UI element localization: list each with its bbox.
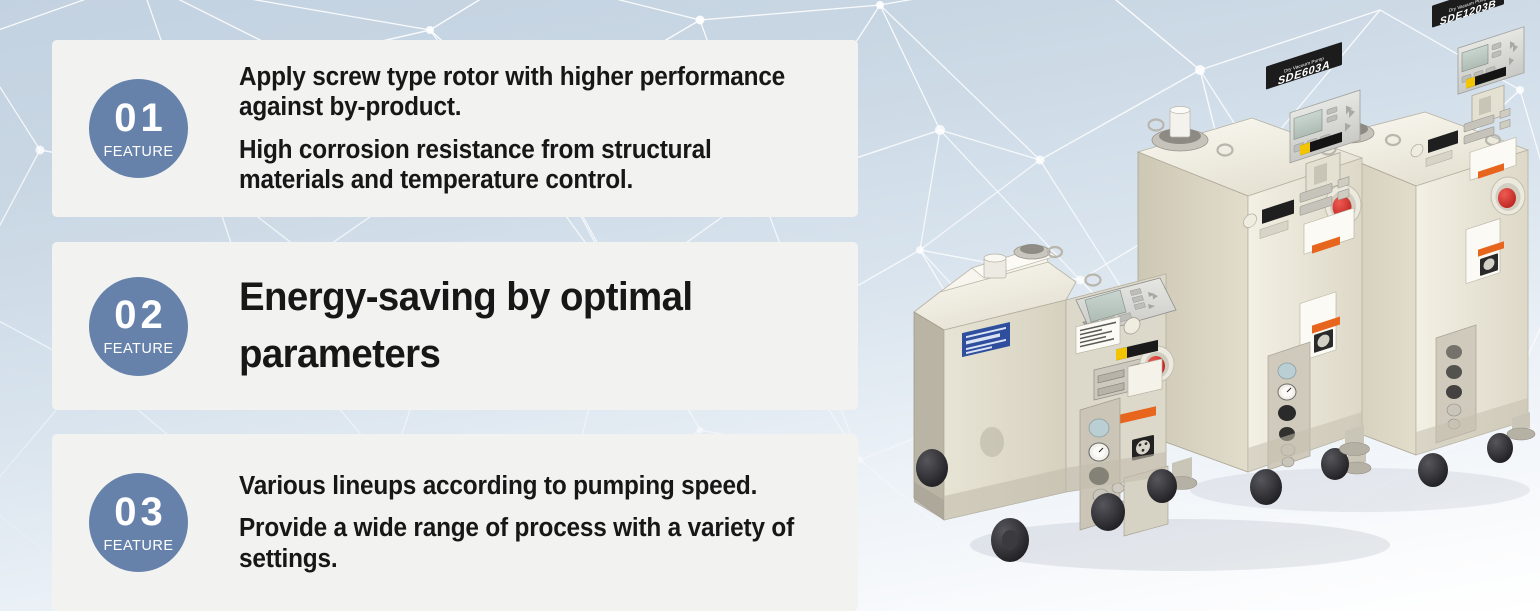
feature-paragraph: Various lineups according to pumping spe… xyxy=(239,471,817,501)
product-image-pumps: Dry Vacuum Pump SDE1203B xyxy=(880,0,1540,611)
feature-number: 01 xyxy=(114,98,167,138)
feature-badge-01: 01 FEATURE xyxy=(89,79,188,178)
feature-badge-03: 03 FEATURE xyxy=(89,473,188,572)
feature-headline: Energy-saving by optimal parameters xyxy=(239,269,820,383)
feature-label: FEATURE xyxy=(103,539,173,554)
feature-paragraph: Apply screw type rotor with higher perfo… xyxy=(239,62,817,122)
feature-text-01: Apply screw type rotor with higher perfo… xyxy=(188,62,858,194)
feature-number: 03 xyxy=(114,492,167,532)
feature-paragraph: High corrosion resistance from structura… xyxy=(239,135,817,195)
feature-banner: 01 FEATURE Apply screw type rotor with h… xyxy=(0,0,1540,611)
feature-card-03: 03 FEATURE Various lineups according to … xyxy=(52,434,858,611)
feature-label: FEATURE xyxy=(103,145,173,160)
feature-card-01: 01 FEATURE Apply screw type rotor with h… xyxy=(52,40,858,217)
pump-unit-front xyxy=(914,244,1177,562)
pump-nameplate-middle: Dry Vacuum Pump SDE603A xyxy=(1266,42,1342,90)
feature-text-02: Energy-saving by optimal parameters xyxy=(188,269,858,383)
feature-text-03: Various lineups according to pumping spe… xyxy=(188,471,858,573)
feature-paragraph: Provide a wide range of process with a v… xyxy=(239,513,817,573)
pump-nameplate-rear: Dry Vacuum Pump SDE1203B xyxy=(1432,0,1504,28)
feature-number: 02 xyxy=(114,295,167,335)
feature-badge-02: 02 FEATURE xyxy=(89,277,188,376)
emergency-stop-button-rear[interactable] xyxy=(1491,177,1525,215)
feature-card-02: 02 FEATURE Energy-saving by optimal para… xyxy=(52,242,858,410)
feature-label: FEATURE xyxy=(103,342,173,357)
pump-illustration: Dry Vacuum Pump SDE1203B xyxy=(880,0,1540,611)
pump-unit-middle: Dry Vacuum Pump SDE603A xyxy=(1138,42,1370,505)
